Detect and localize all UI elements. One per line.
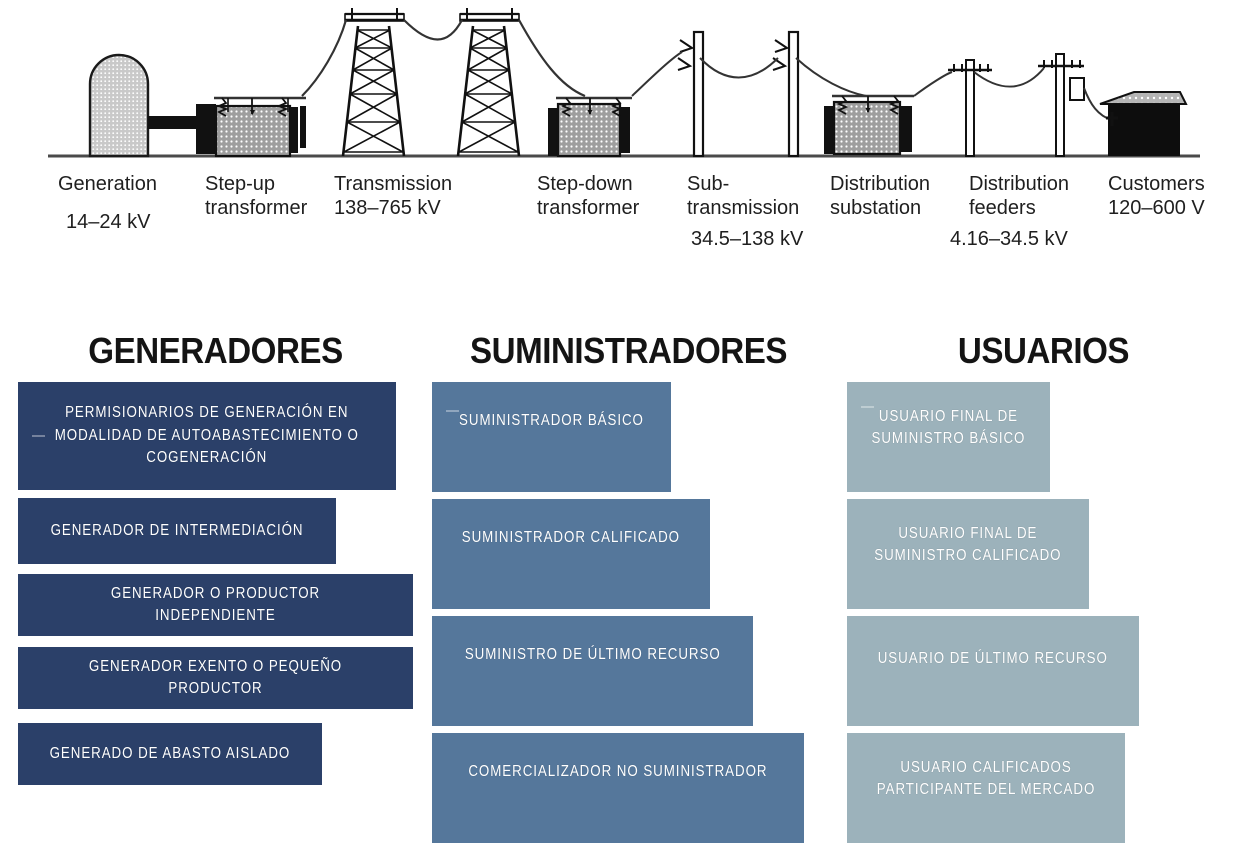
transmission-tower-1-icon [343,8,404,156]
column-usuarios: USUARIOS USUARIO FINAL DE SUMINISTRO BÁS… [847,320,1240,382]
transmission-tower-2-icon [458,8,519,156]
customer-house-icon [1100,92,1186,156]
list-marker-icon [32,435,45,437]
node-label: SUMINISTRADOR CALIFICADO [462,527,680,549]
transmission-line-left [302,20,346,96]
distribution-feeder-pole-2-icon [1038,54,1084,156]
node-label: USUARIO FINAL DE SUMINISTRO BÁSICO [872,406,1026,451]
label-stepdown-line2: transformer [537,197,640,219]
power-system-diagram: Generation 14–24 kV Step-up transformer … [0,0,1255,275]
market-participants-chart: GENERADORES PERMISIONARIOS DE GENERACIÓN… [0,320,1255,863]
column-suministradores: SUMINISTRADORES SUMINISTRADOR BÁSICO SUM… [432,320,825,382]
label-stepup-line1: Step-up [205,173,275,195]
sub-transmission-pole-1-icon [678,32,703,156]
transmission-line-mid [404,20,462,40]
node-label: USUARIO CALIFICADOS PARTICIPANTE DEL MER… [877,757,1095,802]
label-generation-volt: 14–24 kV [66,211,151,233]
node-label: SUMINISTRO DE ÚLTIMO RECURSO [465,644,721,666]
label-distsub-line2: substation [830,197,921,219]
node-suministrador-basico[interactable]: SUMINISTRADOR BÁSICO [432,382,671,492]
step-down-transformer-icon [548,98,632,156]
node-label: GENERADOR DE INTERMEDIACIÓN [51,520,304,542]
node-generador-independiente[interactable]: GENERADOR O PRODUCTOR INDEPENDIENTE [18,574,413,636]
node-suministro-ultimo-recurso[interactable]: SUMINISTRO DE ÚLTIMO RECURSO [432,616,753,726]
distribution-substation-icon [824,96,914,154]
label-feeders-line1: Distribution [969,173,1069,195]
column-heading-generadores: GENERADORES [34,320,397,382]
column-generadores: GENERADORES PERMISIONARIOS DE GENERACIÓN… [18,320,413,382]
node-usuario-ultimo-recurso[interactable]: USUARIO DE ÚLTIMO RECURSO [847,616,1139,726]
node-permisionarios[interactable]: PERMISIONARIOS DE GENERACIÓN EN MODALIDA… [18,382,396,490]
transmission-line-right [519,20,585,96]
label-subtrans-volt: 34.5–138 kV [691,228,804,250]
node-label: PERMISIONARIOS DE GENERACIÓN EN MODALIDA… [55,402,359,469]
sub-transmission-line-1 [632,52,682,96]
label-customers-line1: Customers [1108,173,1205,195]
step-up-transformer-icon [196,98,306,156]
node-generador-exento[interactable]: GENERADOR EXENTO O PEQUEÑO PRODUCTOR [18,647,413,709]
node-usuario-final-suministro-calificado[interactable]: USUARIO FINAL DE SUMINISTRO CALIFICADO [847,499,1089,609]
list-marker-icon [446,410,459,412]
node-label: GENERADOR EXENTO O PEQUEÑO PRODUCTOR [56,656,375,701]
node-label: GENERADOR O PRODUCTOR INDEPENDIENTE [56,583,375,628]
label-subtrans-line2: transmission [687,197,799,219]
label-transmission-line1: Transmission [334,173,452,195]
column-heading-usuarios: USUARIOS [863,320,1225,382]
node-generado-abasto-aislado[interactable]: GENERADO DE ABASTO AISLADO [18,723,322,785]
label-distsub-line1: Distribution [830,173,930,195]
sub-transmission-line-3 [796,58,866,96]
node-usuario-final-suministro-basico[interactable]: USUARIO FINAL DE SUMINISTRO BÁSICO [847,382,1050,492]
node-label: GENERADO DE ABASTO AISLADO [50,743,291,765]
label-subtrans-line1: Sub- [687,173,729,195]
node-suministrador-calificado[interactable]: SUMINISTRADOR CALIFICADO [432,499,710,609]
label-stepdown-line1: Step-down [537,173,633,195]
label-feeders-line2: feeders [969,197,1036,219]
label-stepup-line2: transformer [205,197,308,219]
sub-transmission-pole-2-icon [773,32,798,156]
label-customers-line2: 120–600 V [1108,197,1205,219]
label-generation-line1: Generation [58,173,157,195]
node-label: COMERCIALIZADOR NO SUMINISTRADOR [468,761,767,783]
generation-plant-icon [90,55,200,156]
node-label: USUARIO DE ÚLTIMO RECURSO [878,648,1108,670]
node-label: SUMINISTRADOR BÁSICO [459,410,644,432]
label-feeders-volt: 4.16–34.5 kV [950,228,1069,250]
node-comercializador-no-suministrador[interactable]: COMERCIALIZADOR NO SUMINISTRADOR [432,733,804,843]
distribution-feeder-line-1 [914,72,952,96]
diagram-labels: Generation 14–24 kV Step-up transformer … [58,173,1205,250]
node-usuario-calificados-participante-mercado[interactable]: USUARIO CALIFICADOS PARTICIPANTE DEL MER… [847,733,1125,843]
label-transmission-line2: 138–765 kV [334,197,441,219]
node-generador-intermediacion[interactable]: GENERADOR DE INTERMEDIACIÓN [18,498,336,564]
node-label: USUARIO FINAL DE SUMINISTRO CALIFICADO [874,523,1061,568]
sub-transmission-line-2 [700,58,778,78]
column-heading-suministradores: SUMINISTRADORES [448,320,810,382]
distribution-feeder-pole-1-icon [948,60,992,156]
